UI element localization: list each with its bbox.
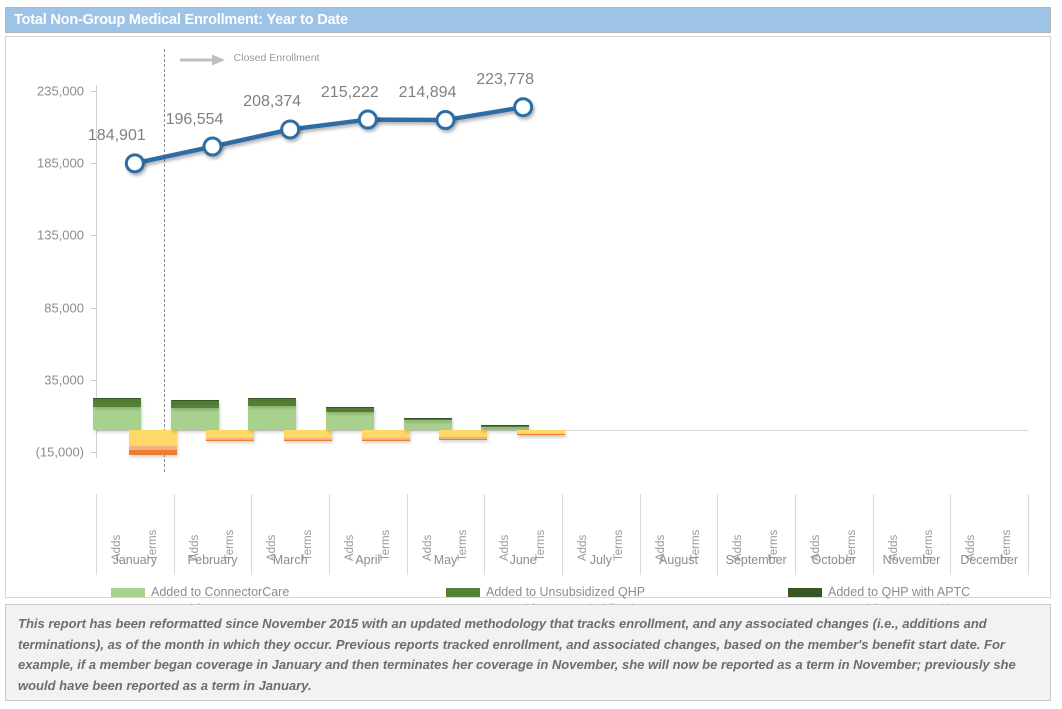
x-axis-month-label: June: [510, 553, 537, 567]
footnote-box: This report has been reformatted since N…: [5, 604, 1051, 701]
x-axis-adds-label: Adds: [422, 535, 434, 561]
x-axis-divider: [795, 494, 796, 575]
right-arrow-icon: [180, 53, 226, 67]
legend-item[interactable]: Added to ConnectorCare: [111, 585, 289, 599]
y-axis-tick-mark: [91, 235, 96, 236]
bar-segment: [362, 430, 410, 437]
x-axis-month-label: August: [659, 553, 698, 567]
bar-segment: [171, 408, 219, 430]
x-axis-divider: [562, 494, 563, 575]
x-axis-divider: [174, 494, 175, 575]
y-axis-tick-mark: [91, 308, 96, 309]
bar-segment: [129, 450, 177, 455]
bar-segment: [326, 407, 374, 411]
enrollment-value-label: 214,894: [399, 84, 457, 102]
x-axis-divider: [484, 494, 485, 575]
y-axis-tick-mark: [91, 380, 96, 381]
bar-segment: [439, 430, 487, 436]
bar-segment: [362, 440, 410, 441]
y-axis-tick-label: 185,000: [37, 156, 84, 171]
x-axis-divider: [717, 494, 718, 575]
bar-segment: [93, 407, 141, 431]
closed-enrollment-label: Closed Enrollment: [234, 52, 320, 64]
chart-page: Total Non-Group Medical Enrollment: Year…: [0, 0, 1062, 709]
closed-enrollment-divider: [164, 49, 165, 472]
bar-segment: [481, 425, 529, 426]
bar-segment: [284, 440, 332, 441]
legend-color-swatch: [788, 588, 822, 597]
enrollment-value-label: 196,554: [166, 111, 224, 129]
x-axis-terms-label: Terms: [613, 530, 625, 561]
enrollment-value-label: 215,222: [321, 84, 379, 102]
bar-segment: [284, 430, 332, 437]
x-axis-divider: [950, 494, 951, 575]
x-axis-month-label: April: [355, 553, 380, 567]
enrollment-data-point: [282, 121, 299, 138]
x-axis-adds-label: Adds: [344, 535, 356, 561]
bar-segment: [404, 418, 452, 419]
enrollment-data-point: [437, 112, 454, 129]
legend-label: Added to QHP with APTC: [828, 585, 970, 599]
legend-item[interactable]: Added to Unsubsidized QHP: [446, 585, 645, 599]
bar-segment: [248, 406, 296, 431]
legend-label: Added to ConnectorCare: [151, 585, 289, 599]
legend-label: Added to Unsubsidized QHP: [486, 585, 645, 599]
y-axis-tick-label: (15,000): [36, 445, 84, 460]
x-axis-terms-label: Terms: [535, 530, 547, 561]
y-axis-tick-label: 85,000: [44, 300, 84, 315]
chart-title-bar: Total Non-Group Medical Enrollment: Year…: [5, 7, 1051, 33]
enrollment-data-point: [359, 111, 376, 128]
enrollment-value-label: 223,778: [476, 71, 534, 89]
bar-segment: [129, 430, 177, 446]
y-axis-tick-label: 235,000: [37, 84, 84, 99]
y-axis-tick-label: 135,000: [37, 228, 84, 243]
x-axis-divider: [329, 494, 330, 575]
chart-frame: 235,000185,000135,00085,00035,000(15,000…: [5, 36, 1051, 598]
x-axis-terms-label: Terms: [457, 530, 469, 561]
bar-segment: [206, 440, 254, 441]
footnote-text: This report has been reformatted since N…: [18, 614, 1038, 696]
x-axis-month-label: December: [960, 553, 1018, 567]
x-axis-month-label: May: [434, 553, 458, 567]
x-axis-divider: [1028, 494, 1029, 575]
x-axis-month-label: July: [590, 553, 612, 567]
x-axis-month-label: October: [812, 553, 856, 567]
legend-color-swatch: [111, 588, 145, 597]
y-axis-tick-mark: [91, 91, 96, 92]
bar-segment: [326, 407, 374, 408]
x-axis-divider: [640, 494, 641, 575]
bar-segment: [93, 398, 141, 399]
bar-segment: [93, 399, 141, 406]
x-axis-divider: [873, 494, 874, 575]
x-axis-month-label: February: [187, 553, 237, 567]
x-axis-terms-label: Terms: [380, 530, 392, 561]
page-title: Total Non-Group Medical Enrollment: Year…: [14, 12, 348, 28]
plot-area: 235,000185,000135,00085,00035,000(15,000…: [6, 37, 1052, 599]
x-axis-divider: [96, 494, 97, 575]
bar-segment: [439, 439, 487, 440]
enrollment-value-label: 184,901: [88, 127, 146, 145]
legend-item[interactable]: Added to QHP with APTC: [788, 585, 970, 599]
bar-segment: [404, 420, 452, 430]
bar-segment: [517, 434, 565, 435]
x-axis-divider: [251, 494, 252, 575]
enrollment-data-point: [515, 99, 532, 116]
bar-segment: [171, 401, 219, 407]
enrollment-data-point: [126, 155, 143, 172]
y-axis-tick-mark: [91, 163, 96, 164]
enrollment-data-point: [204, 138, 221, 155]
bar-segment: [248, 398, 296, 399]
y-axis-tick-mark: [91, 452, 96, 453]
bar-segment: [248, 399, 296, 405]
x-axis-month-label: March: [273, 553, 308, 567]
x-axis-adds-label: Adds: [577, 535, 589, 561]
y-axis-tick-label: 35,000: [44, 372, 84, 387]
x-axis-divider: [407, 494, 408, 575]
bar-segment: [326, 412, 374, 431]
bar-segment: [171, 400, 219, 401]
x-axis-month-label: January: [113, 553, 157, 567]
bar-segment: [206, 430, 254, 437]
x-axis-month-label: November: [883, 553, 941, 567]
legend-color-swatch: [446, 588, 480, 597]
enrollment-value-label: 208,374: [243, 93, 301, 111]
x-axis-month-label: September: [726, 553, 787, 567]
